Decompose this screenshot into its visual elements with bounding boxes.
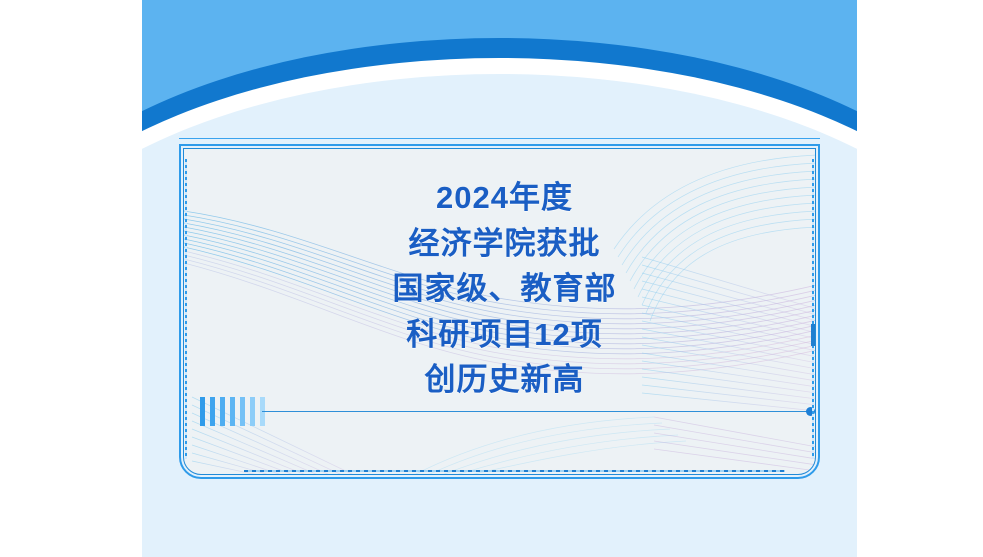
title-line-4: 科研项目12项	[184, 312, 816, 358]
bar-group-decoration	[200, 397, 265, 426]
title-line-1: 2024年度	[184, 175, 816, 221]
decoration-bar	[220, 397, 225, 426]
decoration-bar	[230, 397, 235, 426]
page-title: 2024年度 经济学院获批 国家级、教育部 科研项目12项 创历史新高	[184, 175, 816, 403]
title-line-3: 国家级、教育部	[184, 266, 816, 312]
title-line-5: 创历史新高	[184, 357, 816, 403]
content-frame: 2024年度 经济学院获批 国家级、教育部 科研项目12项 创历史新高	[179, 144, 820, 479]
title-line-2: 经济学院获批	[184, 221, 816, 267]
decoration-bar	[240, 397, 245, 426]
frame-top-accent-rule	[179, 138, 820, 139]
decoration-bar	[200, 397, 205, 426]
decoration-bar	[250, 397, 255, 426]
frame-inner-panel: 2024年度 经济学院获批 国家级、教育部 科研项目12项 创历史新高	[183, 148, 816, 475]
slide-canvas: 2024年度 经济学院获批 国家级、教育部 科研项目12项 创历史新高	[142, 0, 857, 557]
frame-right-dashed-tick	[812, 159, 814, 459]
frame-bottom-dashed-tick	[244, 470, 785, 472]
decoration-bar	[210, 397, 215, 426]
bottom-horizontal-rule	[262, 411, 811, 412]
frame-left-dashed-tick	[185, 159, 187, 459]
frame-right-edge-marker	[811, 324, 816, 346]
slide-page: 2024年度 经济学院获批 国家级、教育部 科研项目12项 创历史新高	[0, 0, 983, 557]
